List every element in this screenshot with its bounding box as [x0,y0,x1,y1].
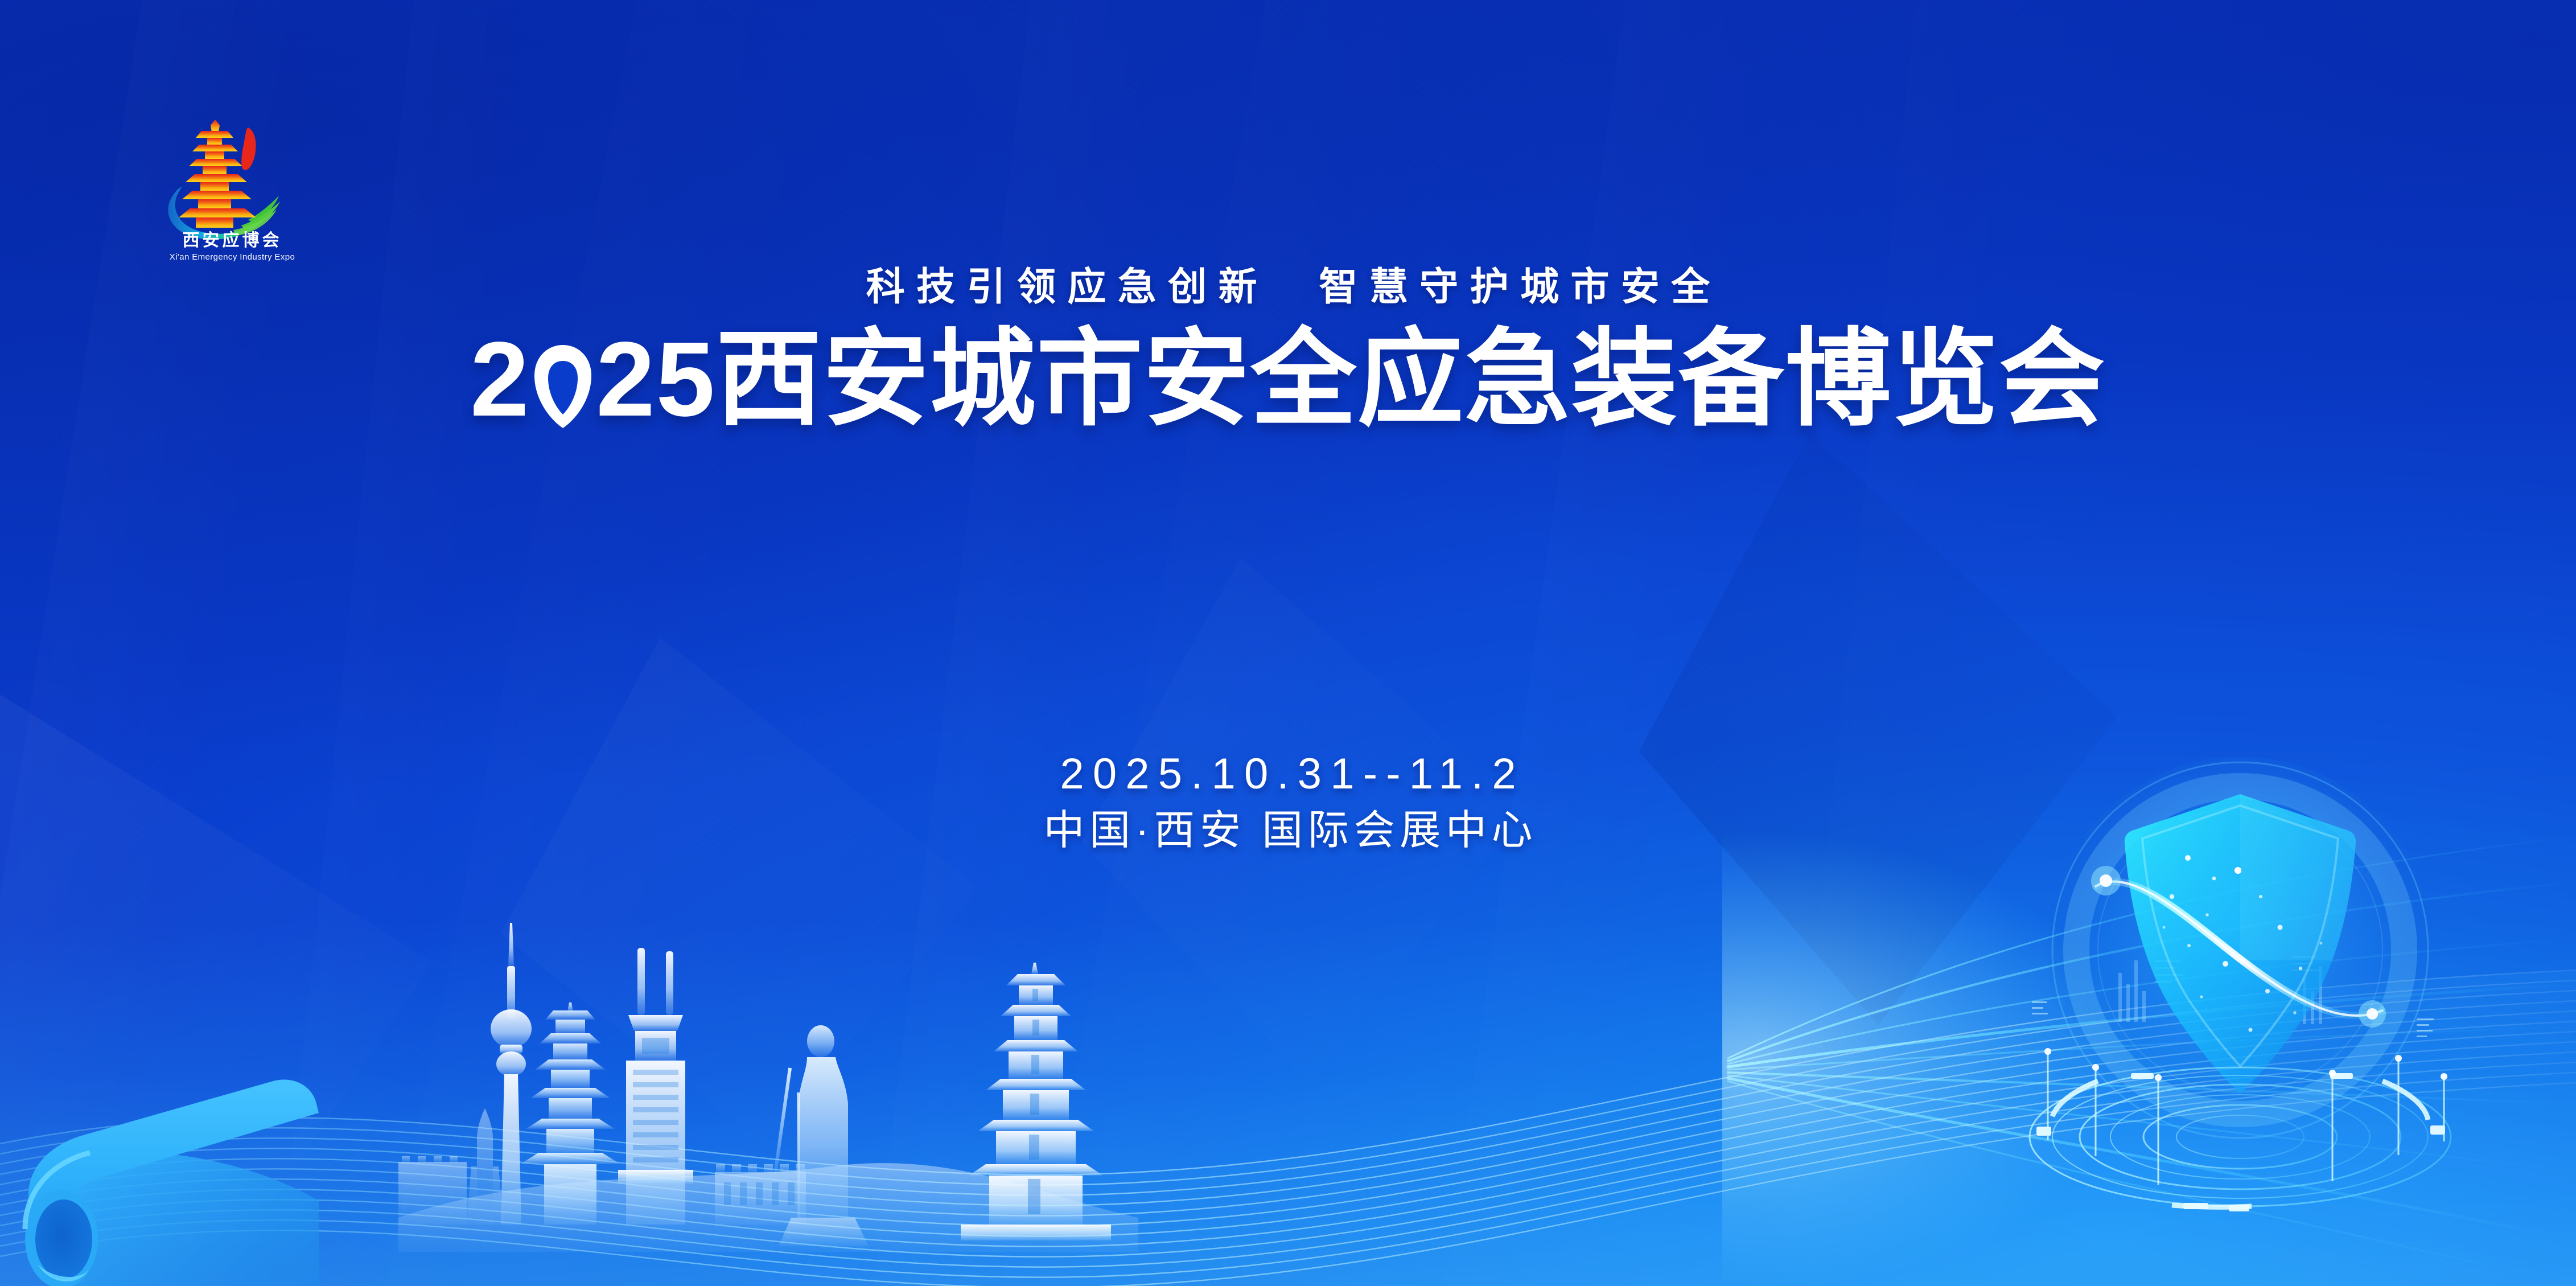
promo-banner: 西安应博会 Xi'an Emergency Industry Expo 科技引领… [0,0,2576,1286]
event-slogan: 科技引领应急创新 智慧守护城市安全 [0,268,2576,306]
title-name: 西安城市安全应急装备博览会 [716,327,2106,433]
headline-block: 科技引领应急创新 智慧守护城市安全 2 25 西安城市安全应急装备博览会 [0,268,2576,433]
page-title: 2 25 西安城市安全应急装备博览会 [0,327,2576,433]
logo-mark: 西安应博会 Xi'an Emergency Industry Expo [147,102,318,273]
logo-english-name: Xi'an Emergency Industry Expo [170,252,295,262]
xian-skyline-icon [398,899,1138,1252]
title-year-suffix: 25 [596,327,716,433]
event-info: 2025.10.31--11.2 中国·西安 国际会展中心 [0,751,2576,852]
logo-chinese-name: 西安应博会 [183,231,282,250]
event-venue: 中国·西安 国际会展中心 [0,810,2576,853]
event-date: 2025.10.31--11.2 [0,751,2576,797]
paper-scroll-icon [0,1058,319,1286]
title-year: 2 25 [470,327,716,433]
shield-zero-icon [531,340,595,426]
xian-pagoda-logo: 西安应博会 Xi'an Emergency Industry Expo [147,102,318,273]
title-year-prefix: 2 [470,327,530,433]
